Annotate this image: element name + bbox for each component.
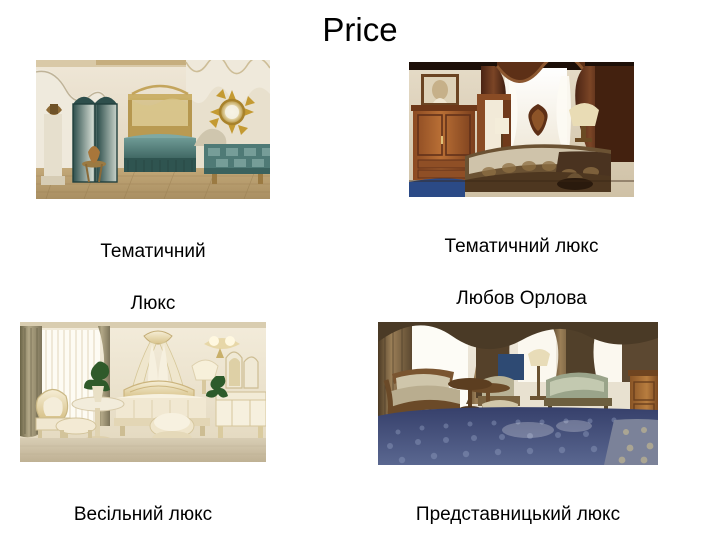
suite-photo-wedding xyxy=(20,322,266,462)
suite-name-line-1: Представницький люкс xyxy=(370,502,666,528)
suite-name-line-2: Люкс xyxy=(36,291,270,317)
suite-name-line-2: Любов Орлова xyxy=(399,286,644,312)
suite-name-line-1: Тематичний xyxy=(36,239,270,265)
suite-name-line-1: Весільний люкс xyxy=(10,502,276,528)
suite-photo-thematic-roksolana xyxy=(36,60,270,199)
suite-photo-thematic-orlova xyxy=(409,62,634,197)
presentation-slide: Price xyxy=(0,0,720,540)
suite-photo-representative xyxy=(378,322,658,465)
caption-representative: Представницький люкс від 4500 UAH xyxy=(370,476,666,540)
caption-wedding: Весільний люкс від 2500 UAH xyxy=(10,476,276,540)
page-title: Price xyxy=(0,10,720,50)
suite-name-line-1: Тематичний люкс xyxy=(399,234,644,260)
